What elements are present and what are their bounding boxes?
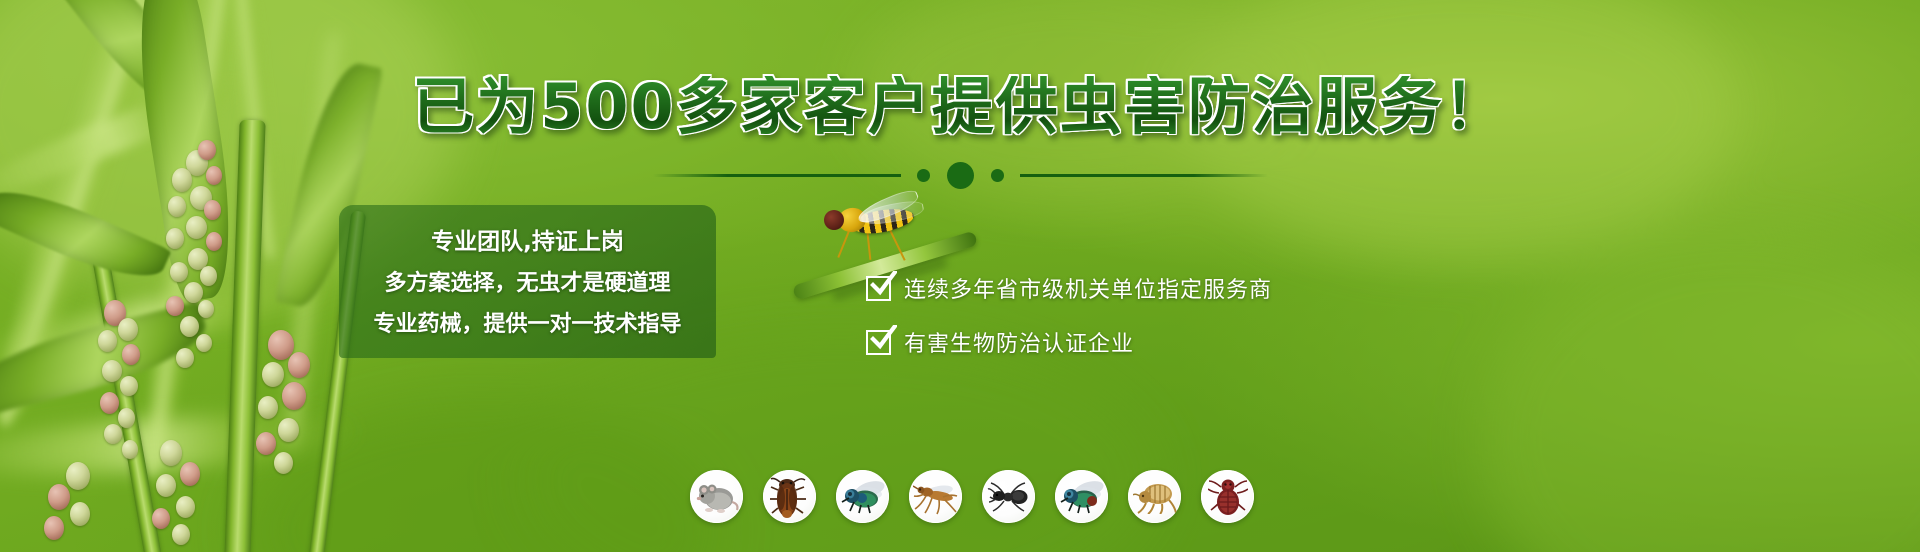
flea-icon[interactable] (1128, 470, 1181, 523)
divider-with-dots (0, 160, 1920, 190)
dot-small-left-icon (917, 169, 930, 182)
slogan-line-2: 多方案选择，无虫才是硬道理 (384, 265, 670, 297)
dot-small-right-icon (991, 169, 1004, 182)
certification-label: 连续多年省市级机关单位指定服务商 (904, 272, 1272, 304)
divider-rule-right (1020, 174, 1268, 177)
cockroach-icon[interactable] (763, 470, 816, 523)
divider-rule-left (653, 174, 901, 177)
dot-large-center-icon (947, 162, 974, 189)
certification-item: 有害生物防治认证企业 (866, 326, 1272, 358)
mosquito-icon[interactable] (909, 470, 962, 523)
pest-icon-row (690, 470, 1254, 523)
ant-icon[interactable] (982, 470, 1035, 523)
certification-label: 有害生物防治认证企业 (904, 326, 1134, 358)
fly-icon[interactable] (836, 470, 889, 523)
checkbox-check-icon (866, 330, 891, 355)
certification-item: 连续多年省市级机关单位指定服务商 (866, 272, 1272, 304)
slogan-line-3: 专业药械，提供一对一技术指导 (373, 306, 681, 338)
certification-list: 连续多年省市级机关单位指定服务商 有害生物防治认证企业 (866, 272, 1272, 358)
slogan-line-1: 专业团队,持证上岗 (431, 222, 624, 256)
headline-text: 已为500多家客户提供虫害防治服务！ (412, 76, 1507, 138)
checkbox-check-icon (866, 276, 891, 301)
slogan-panel: 专业团队,持证上岗 多方案选择，无虫才是硬道理 专业药械，提供一对一技术指导 (339, 205, 716, 358)
blowfly-icon[interactable] (1055, 470, 1108, 523)
banner-headline: 已为500多家客户提供虫害防治服务！ (0, 76, 1920, 138)
divider-dots (917, 162, 1004, 189)
pest-control-banner: 已为500多家客户提供虫害防治服务！ 专业团队,持证上岗 多方案选择，无虫才是硬… (0, 0, 1920, 552)
bedbug-icon[interactable] (1201, 470, 1254, 523)
mouse-icon[interactable] (690, 470, 743, 523)
